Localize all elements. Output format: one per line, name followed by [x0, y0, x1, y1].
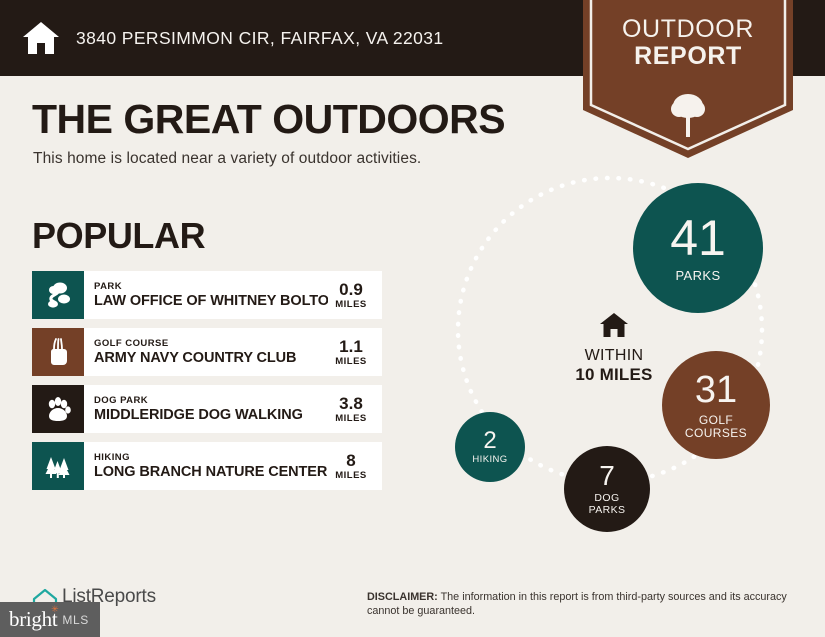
list-item[interactable]: GOLF COURSE ARMY NAVY COUNTRY CLUB 1.1 M… — [32, 328, 382, 376]
list-item-distance: 3.8 MILES — [328, 385, 382, 433]
list-item-distance: 8 MILES — [328, 442, 382, 490]
distance-value: 3.8 — [339, 395, 363, 413]
list-item-distance: 1.1 MILES — [328, 328, 382, 376]
distance-value: 0.9 — [339, 281, 363, 299]
outdoor-report-page: 3840 PERSIMMON CIR, FAIRFAX, VA 22031 OU… — [0, 0, 825, 637]
paw-icon — [43, 394, 73, 424]
list-item[interactable]: PARK LAW OFFICE OF WHITNEY BOLTON 0.9 MI… — [32, 271, 382, 319]
bubble-label-line-2: PARKS — [589, 505, 626, 516]
property-address: 3840 PERSIMMON CIR, FAIRFAX, VA 22031 — [76, 28, 444, 49]
list-item-category: PARK — [94, 281, 328, 293]
bubble-value: 7 — [599, 462, 615, 490]
distance-value: 8 — [346, 452, 355, 470]
bright-star-icon: ✳ — [51, 605, 58, 614]
list-item-body: HIKING LONG BRANCH NATURE CENTER — [84, 442, 328, 490]
bubble-label: GOLF COURSES — [685, 414, 747, 439]
list-item-name: MIDDLERIDGE DOG WALKING — [94, 407, 328, 424]
page-title: THE GREAT OUTDOORS — [32, 96, 505, 143]
disclaimer: DISCLAIMER: The information in this repo… — [367, 591, 792, 618]
bubble-label-line-2: COURSES — [685, 427, 747, 440]
dog-park-icon-tile — [32, 385, 84, 433]
disclaimer-label: DISCLAIMER: — [367, 591, 438, 603]
bubble-value: 31 — [695, 371, 737, 409]
park-icon-tile — [32, 271, 84, 319]
list-item-distance: 0.9 MILES — [328, 271, 382, 319]
center-label-line-1: WITHIN — [585, 346, 644, 365]
list-item-name: LONG BRANCH NATURE CENTER — [94, 464, 328, 481]
home-icon — [22, 21, 60, 55]
bubble-hiking[interactable]: 2 HIKING — [455, 412, 525, 482]
list-item-category: HIKING — [94, 452, 328, 464]
bubble-dog-parks[interactable]: 7 DOG PARKS — [564, 446, 650, 532]
popular-heading: POPULAR — [32, 215, 205, 257]
distance-unit: MILES — [335, 356, 367, 367]
page-subtitle: This home is located near a variety of o… — [33, 150, 421, 168]
chart-center-label: WITHIN 10 MILES — [534, 312, 694, 385]
list-item[interactable]: DOG PARK MIDDLERIDGE DOG WALKING 3.8 MIL… — [32, 385, 382, 433]
hiking-icon-tile — [32, 442, 84, 490]
home-icon — [599, 312, 629, 338]
list-item-body: PARK LAW OFFICE OF WHITNEY BOLTON — [84, 271, 328, 319]
bubble-value: 41 — [670, 213, 726, 263]
bright-text: bright — [9, 607, 57, 631]
golf-bag-icon — [43, 337, 73, 367]
pine-trees-icon — [43, 451, 73, 481]
list-item-body: GOLF COURSE ARMY NAVY COUNTRY CLUB — [84, 328, 328, 376]
popular-list: PARK LAW OFFICE OF WHITNEY BOLTON 0.9 MI… — [32, 271, 382, 499]
list-item-name: ARMY NAVY COUNTRY CLUB — [94, 350, 328, 367]
distance-unit: MILES — [335, 413, 367, 424]
distance-unit: MILES — [335, 299, 367, 310]
list-item-category: GOLF COURSE — [94, 338, 328, 350]
bright-mls-logo: bright ✳ MLS — [0, 602, 100, 637]
list-item[interactable]: HIKING LONG BRANCH NATURE CENTER 8 MILES — [32, 442, 382, 490]
outdoor-report-badge: OUTDOOR REPORT — [583, 0, 793, 158]
bubble-parks[interactable]: 41 PARKS — [633, 183, 763, 313]
list-item-category: DOG PARK — [94, 395, 328, 407]
park-icon — [43, 280, 73, 310]
center-label-line-2: 10 MILES — [575, 365, 652, 385]
bubble-label-line-1: GOLF — [685, 414, 747, 427]
bubble-label: HIKING — [472, 455, 507, 465]
amenities-bubble-chart: 41 PARKS 31 GOLF COURSES 7 DOG PARKS 2 H… — [420, 165, 820, 565]
bright-mls-text: MLS — [62, 613, 88, 627]
bright-word: bright ✳ — [9, 607, 57, 632]
badge-shield-shape — [583, 0, 793, 158]
bubble-label-line-1: DOG — [589, 493, 626, 504]
bubble-label: DOG PARKS — [589, 493, 626, 515]
golf-icon-tile — [32, 328, 84, 376]
bubble-value: 2 — [483, 429, 496, 453]
distance-unit: MILES — [335, 470, 367, 481]
list-item-body: DOG PARK MIDDLERIDGE DOG WALKING — [84, 385, 328, 433]
distance-value: 1.1 — [339, 338, 363, 356]
bubble-label: PARKS — [675, 269, 720, 283]
list-item-name: LAW OFFICE OF WHITNEY BOLTON — [94, 293, 328, 310]
